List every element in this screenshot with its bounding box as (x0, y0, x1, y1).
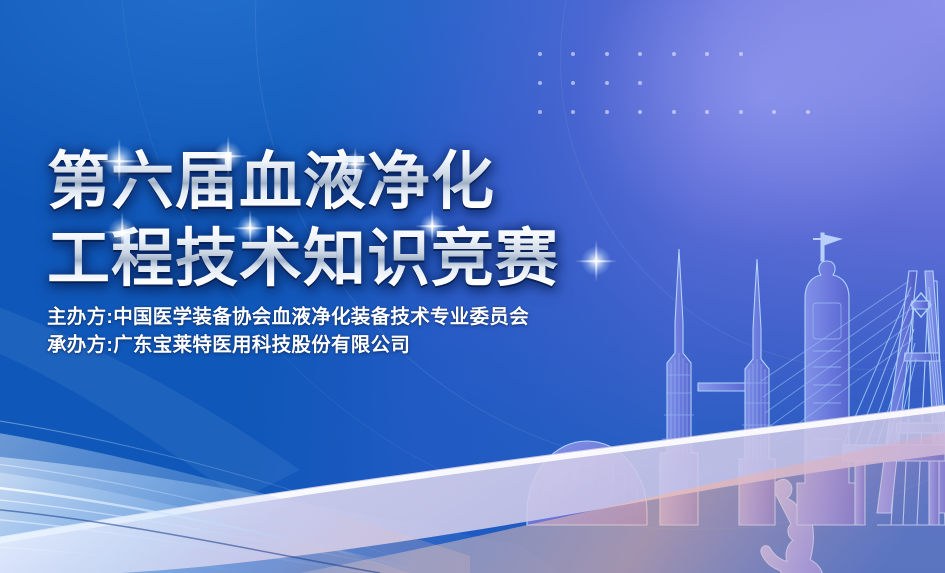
grid-dot (571, 52, 575, 56)
grid-dot (605, 52, 609, 56)
dot-grid-row (538, 110, 835, 139)
grid-dot (806, 110, 810, 114)
poster-title: 第六届血液净化 工程技术知识竞赛 (47, 146, 559, 295)
grid-dot (739, 110, 743, 114)
grid-dot (538, 81, 542, 85)
grid-dot (638, 110, 642, 114)
title-line-1: 第六届血液净化 (47, 146, 559, 218)
grid-dot (605, 81, 609, 85)
dot-grid-row (538, 52, 835, 81)
grid-dot (672, 110, 676, 114)
grid-dot (672, 52, 676, 56)
grid-dot (705, 52, 709, 56)
poster-subtitle: 主办方:中国医学装备协会血液净化装备技术专业委员会 承办方:广东宝莱特医用科技股… (47, 303, 529, 359)
organizer-line: 主办方:中国医学装备协会血液净化装备技术专业委员会 (47, 303, 529, 331)
decor-dot-grid (538, 52, 835, 139)
grid-dot (772, 110, 776, 114)
grid-dot (538, 52, 542, 56)
grid-dot (571, 110, 575, 114)
grid-dot (571, 81, 575, 85)
grid-dot (705, 110, 709, 114)
grid-dot (739, 52, 743, 56)
title-line-2: 工程技术知识竞赛 (47, 223, 559, 295)
grid-dot (638, 81, 642, 85)
grid-dot (638, 52, 642, 56)
dot-grid-row (538, 81, 835, 110)
event-poster: 第六届血液净化 工程技术知识竞赛 主办方:中国医学装备协会血液净化装备技术专业委… (0, 0, 945, 573)
grid-dot (538, 110, 542, 114)
grid-dot (605, 110, 609, 114)
host-line: 承办方:广东宝莱特医用科技股份有限公司 (47, 331, 529, 359)
